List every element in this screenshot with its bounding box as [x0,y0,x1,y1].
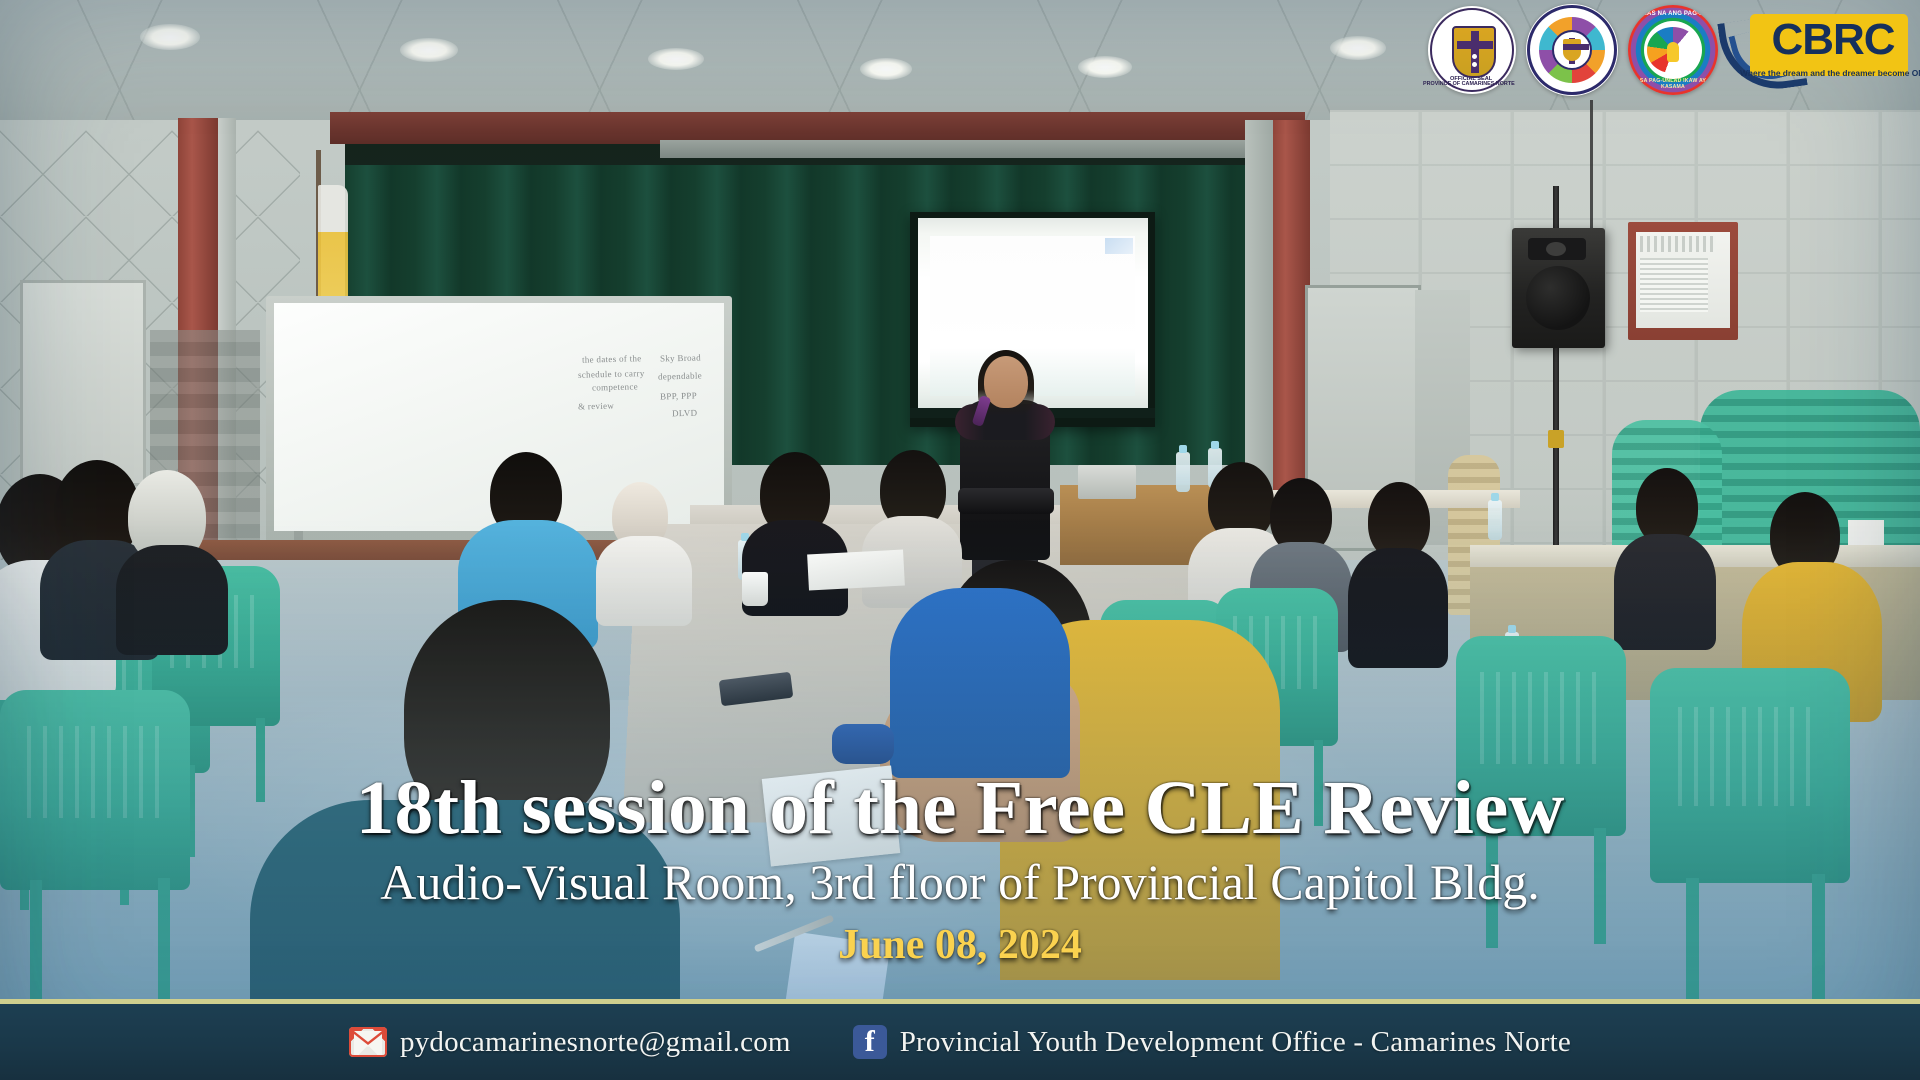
provincial-youth-development-office-seal-icon [1526,4,1618,96]
bukas-human-figure [1667,42,1679,62]
footer-email-item[interactable]: pydocamarinesnorte@gmail.com [349,1026,791,1059]
footer-contact-bar: pydocamarinesnorte@gmail.com f Provincia… [0,1004,1920,1080]
event-poster: the dates of the schedule to carry compe… [0,0,1920,1080]
facebook-glyph: f [853,1024,887,1060]
seal-dot [1472,54,1477,59]
province-of-camarines-norte-seal-icon: PROVINCE OF CAMARINES NORTE OFFICIAL SEA… [1428,6,1516,94]
gmail-envelope-glyph [354,1031,382,1055]
bukas-bottom-text: SA PAG-UNLAD IKAW AY KASAMA [1628,78,1718,90]
page-title: 18th session of the Free CLE Review [0,766,1920,850]
pydo-center-emblem [1552,30,1592,70]
footer-facebook-item[interactable]: f Provincial Youth Development Office - … [853,1025,1571,1059]
seal-cross-horizontal [1457,41,1493,49]
bukas-top-text: BUKAS NA ANG PAG-ASA [1628,11,1718,17]
facebook-icon: f [853,1025,887,1059]
cbrc-tagline: Where the dream and the dreamer become O… [1740,68,1910,78]
poster-date: June 08, 2024 [0,918,1920,972]
footer-facebook-text: Provincial Youth Development Office - Ca… [900,1026,1571,1059]
poster-text-block: 18th session of the Free CLE Review Audi… [0,766,1920,972]
gmail-icon [349,1027,387,1057]
seal-dot [1472,62,1477,67]
logo-row: PROVINCE OF CAMARINES NORTE OFFICIAL SEA… [1428,4,1910,96]
seal-shield [1452,26,1496,78]
cbrc-wordmark: CBRC [1762,14,1904,66]
cbrc-logo-icon: CBRC Where the dream and the dreamer bec… [1728,12,1910,88]
poster-subtitle: Audio-Visual Room, 3rd floor of Provinci… [0,852,1920,912]
footer-email-text: pydocamarinesnorte@gmail.com [400,1026,791,1059]
bukas-na-ang-pag-asa-logo-icon: BUKAS NA ANG PAG-ASA SA PAG-UNLAD IKAW A… [1628,5,1718,95]
